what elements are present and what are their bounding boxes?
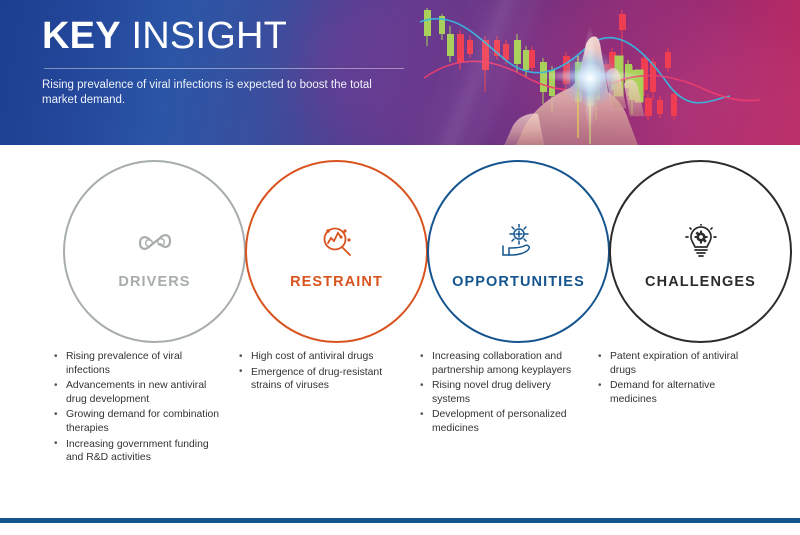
list-item: Growing demand for combination therapies	[53, 408, 225, 435]
stage-flow-row: DRIVERS RESTRAINT	[0, 145, 800, 355]
list-item: Development of personalized medicines	[419, 408, 584, 435]
header-subtitle: Rising prevalence of viral infections is…	[42, 78, 372, 108]
title-light-word: INSIGHT	[121, 15, 287, 57]
list-item: High cost of antiviral drugs	[238, 350, 398, 364]
bullet-column-restraint: High cost of antiviral drugs Emergence o…	[238, 350, 398, 395]
stage-label-drivers: DRIVERS	[118, 274, 190, 290]
stage-circle-restraint[interactable]: RESTRAINT	[245, 160, 428, 343]
stage-label-opportunities: OPPORTUNITIES	[452, 274, 585, 290]
list-item: Rising novel drug delivery systems	[419, 379, 584, 406]
magnifier-chart-icon	[319, 214, 355, 258]
stage-circle-drivers[interactable]: DRIVERS	[63, 160, 246, 343]
fingertip-glow	[560, 48, 620, 108]
title-divider	[44, 68, 404, 69]
bullet-column-drivers: Rising prevalence of viral infections Ad…	[53, 350, 225, 467]
stage-label-restraint: RESTRAINT	[290, 274, 383, 290]
list-item: Emergence of drug-resistant strains of v…	[238, 366, 398, 393]
list-item: Patent expiration of antiviral drugs	[597, 350, 757, 377]
hand-holding-sun-pill-icon	[500, 214, 538, 258]
infinity-growth-icon	[138, 214, 172, 258]
stage-circle-challenges[interactable]: CHALLENGES	[609, 160, 792, 343]
header-banner: KEY INSIGHT Rising prevalence of viral i…	[0, 0, 800, 145]
list-item: Demand for alternative medicines	[597, 379, 757, 406]
stage-circle-opportunities[interactable]: OPPORTUNITIES	[427, 160, 610, 343]
lightbulb-gear-icon	[685, 214, 717, 258]
page-title: KEY INSIGHT	[42, 14, 422, 58]
bullet-column-opportunities: Increasing collaboration and partnership…	[419, 350, 584, 438]
header-text-block: KEY INSIGHT Rising prevalence of viral i…	[42, 14, 422, 108]
list-item: Increasing government funding and R&D ac…	[53, 438, 225, 465]
list-item: Rising prevalence of viral infections	[53, 350, 225, 377]
bullet-columns: Rising prevalence of viral infections Ad…	[0, 350, 800, 500]
title-bold-word: KEY	[42, 15, 121, 57]
footer-accent-bar	[0, 518, 800, 523]
bullet-column-challenges: Patent expiration of antiviral drugs Dem…	[597, 350, 757, 408]
list-item: Increasing collaboration and partnership…	[419, 350, 584, 377]
list-item: Advancements in new antiviral drug devel…	[53, 379, 225, 406]
stage-label-challenges: CHALLENGES	[645, 274, 756, 290]
